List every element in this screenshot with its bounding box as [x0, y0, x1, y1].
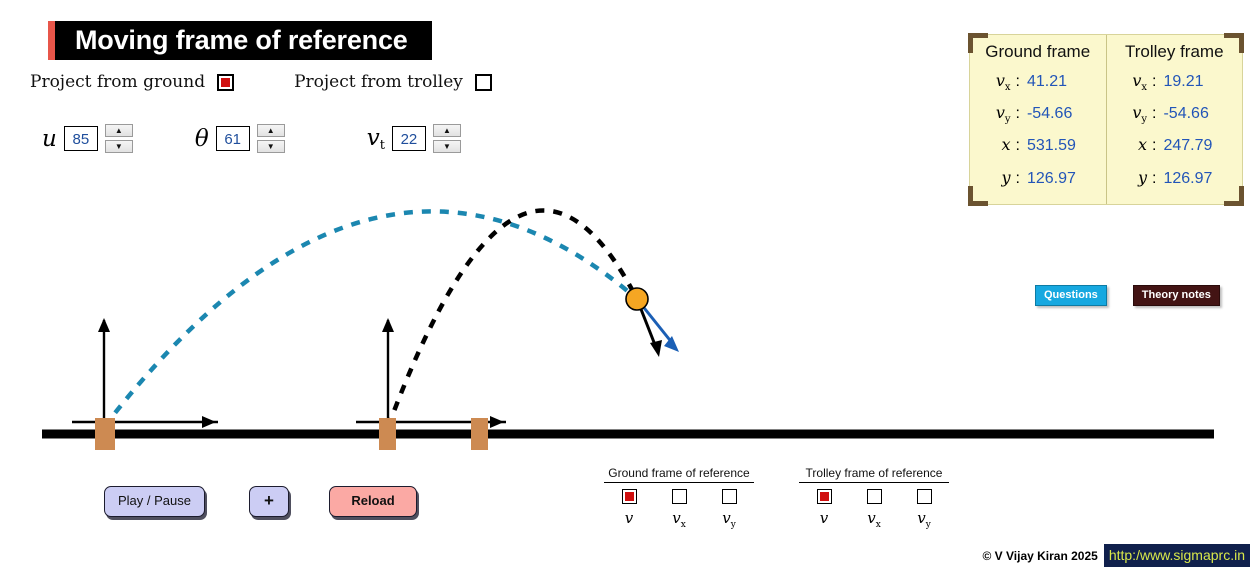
launch-angle-input[interactable]: 61 [216, 126, 250, 151]
project-from-trolley-checkbox[interactable] [475, 74, 492, 91]
launch-angle-field: θ 61 ▲ ▼ [195, 124, 285, 153]
ground-vx-label: vx [672, 509, 686, 530]
project-from-ground-option[interactable]: Project from ground [30, 72, 234, 92]
row-key: vy [991, 103, 1011, 125]
table-row: vy : -54.66 [970, 98, 1106, 130]
row-colon: : [1011, 170, 1027, 188]
row-colon: : [1147, 137, 1163, 155]
projectile-ball [626, 288, 648, 310]
zoom-in-button[interactable]: + [249, 486, 289, 517]
table-row: vx : 19.21 [1107, 66, 1243, 98]
table-row: vy : -54.66 [1107, 98, 1243, 130]
trolley-vx-checkbox[interactable] [867, 489, 882, 504]
row-colon: : [1011, 73, 1027, 91]
row-key: vx [1127, 71, 1147, 93]
initial-speed-field: u 85 ▲ ▼ [42, 124, 133, 153]
ground-v-label: v [625, 509, 633, 530]
frame-readout-table: Ground frame vx : 41.21 vy : -54.66 x : … [969, 34, 1243, 205]
ground-vy-label: vy [722, 509, 736, 530]
launch-angle-stepper: ▲ ▼ [257, 124, 285, 153]
launch-angle-decrement-button[interactable]: ▼ [257, 140, 285, 153]
trolley-frame-header: Trolley frame [1107, 42, 1243, 66]
trolley-v-option[interactable]: v [799, 489, 849, 530]
trolley-speed-field: vt 22 ▲ ▼ [367, 124, 461, 153]
row-key: vy [1127, 103, 1147, 125]
trolley-speed-increment-button[interactable]: ▲ [433, 124, 461, 137]
trolley-frame-axes [356, 318, 506, 428]
ground-frame-trajectory [104, 211, 637, 427]
trolley-frame-vector-title: Trolley frame of reference [799, 466, 949, 483]
row-value: 126.97 [1163, 170, 1221, 188]
projection-mode-row: Project from ground Project from trolley [30, 72, 492, 92]
row-value: 126.97 [1027, 170, 1085, 188]
row-key: y [1127, 168, 1147, 190]
ground-frame-column: Ground frame vx : 41.21 vy : -54.66 x : … [970, 35, 1106, 204]
trolley-v-label: v [820, 509, 828, 530]
row-value: 531.59 [1027, 137, 1085, 155]
ground-frame-axes [72, 318, 218, 428]
trolley-frame-trajectory [388, 210, 637, 427]
project-from-ground-label: Project from ground [30, 72, 205, 92]
trolley-vy-option[interactable]: vy [899, 489, 949, 530]
row-value: 19.21 [1163, 73, 1221, 91]
ground-vy-checkbox[interactable] [722, 489, 737, 504]
website-link[interactable]: http:/www.sigmaprc.in [1104, 544, 1250, 567]
ground-v-option[interactable]: v [604, 489, 654, 530]
row-colon: : [1011, 137, 1027, 155]
trolley-vy-checkbox[interactable] [917, 489, 932, 504]
initial-speed-input[interactable]: 85 [64, 126, 98, 151]
row-colon: : [1011, 105, 1027, 123]
page-title: Moving frame of reference [48, 21, 432, 60]
title-text: Moving frame of reference [55, 21, 432, 60]
row-colon: : [1147, 73, 1163, 91]
trolley-frame-vector-group: Trolley frame of reference v vx vy [799, 466, 949, 530]
playback-controls: Play / Pause + Reload [104, 486, 417, 517]
trolley-blocks [95, 418, 488, 450]
copyright-text: © V Vijay Kiran 2025 [982, 549, 1103, 563]
initial-speed-symbol: u [42, 126, 57, 152]
row-colon: : [1147, 105, 1163, 123]
ground-frame-vector-group: Ground frame of reference v vx vy [604, 466, 754, 530]
reload-button[interactable]: Reload [329, 486, 417, 517]
parameter-inputs-row: u 85 ▲ ▼ θ 61 ▲ ▼ vt 22 ▲ ▼ [42, 124, 461, 153]
ground-v-checkbox[interactable] [622, 489, 637, 504]
questions-button[interactable]: Questions [1035, 285, 1107, 306]
trolley-speed-stepper: ▲ ▼ [433, 124, 461, 153]
ground-frame-header: Ground frame [970, 42, 1106, 66]
play-pause-button[interactable]: Play / Pause [104, 486, 205, 517]
ground-frame-vector-title: Ground frame of reference [604, 466, 754, 483]
title-accent-bar [48, 21, 55, 60]
row-value: 247.79 [1163, 137, 1221, 155]
table-row: y : 126.97 [1107, 163, 1243, 195]
simulation-app: Moving frame of reference Project from g… [0, 0, 1250, 581]
table-row: vx : 41.21 [970, 66, 1106, 98]
project-from-trolley-option[interactable]: Project from trolley [294, 72, 492, 92]
trolley-frame-column: Trolley frame vx : 19.21 vy : -54.66 x :… [1106, 35, 1243, 204]
resource-links: Questions Theory notes [1035, 285, 1220, 306]
project-from-trolley-label: Project from trolley [294, 72, 463, 92]
initial-speed-stepper: ▲ ▼ [105, 124, 133, 153]
row-colon: : [1147, 170, 1163, 188]
table-row: y : 126.97 [970, 163, 1106, 195]
row-key: x [991, 135, 1011, 157]
trolley-speed-decrement-button[interactable]: ▼ [433, 140, 461, 153]
ground-vx-option[interactable]: vx [654, 489, 704, 530]
row-key: vx [991, 71, 1011, 93]
trolley-v-checkbox[interactable] [817, 489, 832, 504]
footer: © V Vijay Kiran 2025 http:/www.sigmaprc.… [982, 544, 1250, 567]
trolley-speed-input[interactable]: 22 [392, 126, 426, 151]
project-from-ground-checkbox[interactable] [217, 74, 234, 91]
theory-notes-button[interactable]: Theory notes [1133, 285, 1220, 306]
initial-speed-decrement-button[interactable]: ▼ [105, 140, 133, 153]
ground-vx-checkbox[interactable] [672, 489, 687, 504]
velocity-vector-trolley [637, 299, 662, 357]
corner-bracket-icon [968, 33, 988, 53]
trolley-vy-label: vy [917, 509, 931, 530]
velocity-vector-ground [637, 299, 679, 352]
launch-angle-increment-button[interactable]: ▲ [257, 124, 285, 137]
trolley-vx-label: vx [867, 509, 881, 530]
table-row: x : 247.79 [1107, 130, 1243, 162]
trolley-vx-option[interactable]: vx [849, 489, 899, 530]
corner-bracket-icon [1224, 186, 1244, 206]
trolley-speed-symbol: vt [367, 125, 385, 153]
row-key: x [1127, 135, 1147, 157]
table-row: x : 531.59 [970, 130, 1106, 162]
row-value: -54.66 [1163, 105, 1221, 123]
initial-speed-increment-button[interactable]: ▲ [105, 124, 133, 137]
row-value: 41.21 [1027, 73, 1085, 91]
corner-bracket-icon [968, 186, 988, 206]
row-value: -54.66 [1027, 105, 1085, 123]
ground-vy-option[interactable]: vy [704, 489, 754, 530]
launch-angle-symbol: θ [195, 126, 209, 152]
row-key: y [991, 168, 1011, 190]
corner-bracket-icon [1224, 33, 1244, 53]
